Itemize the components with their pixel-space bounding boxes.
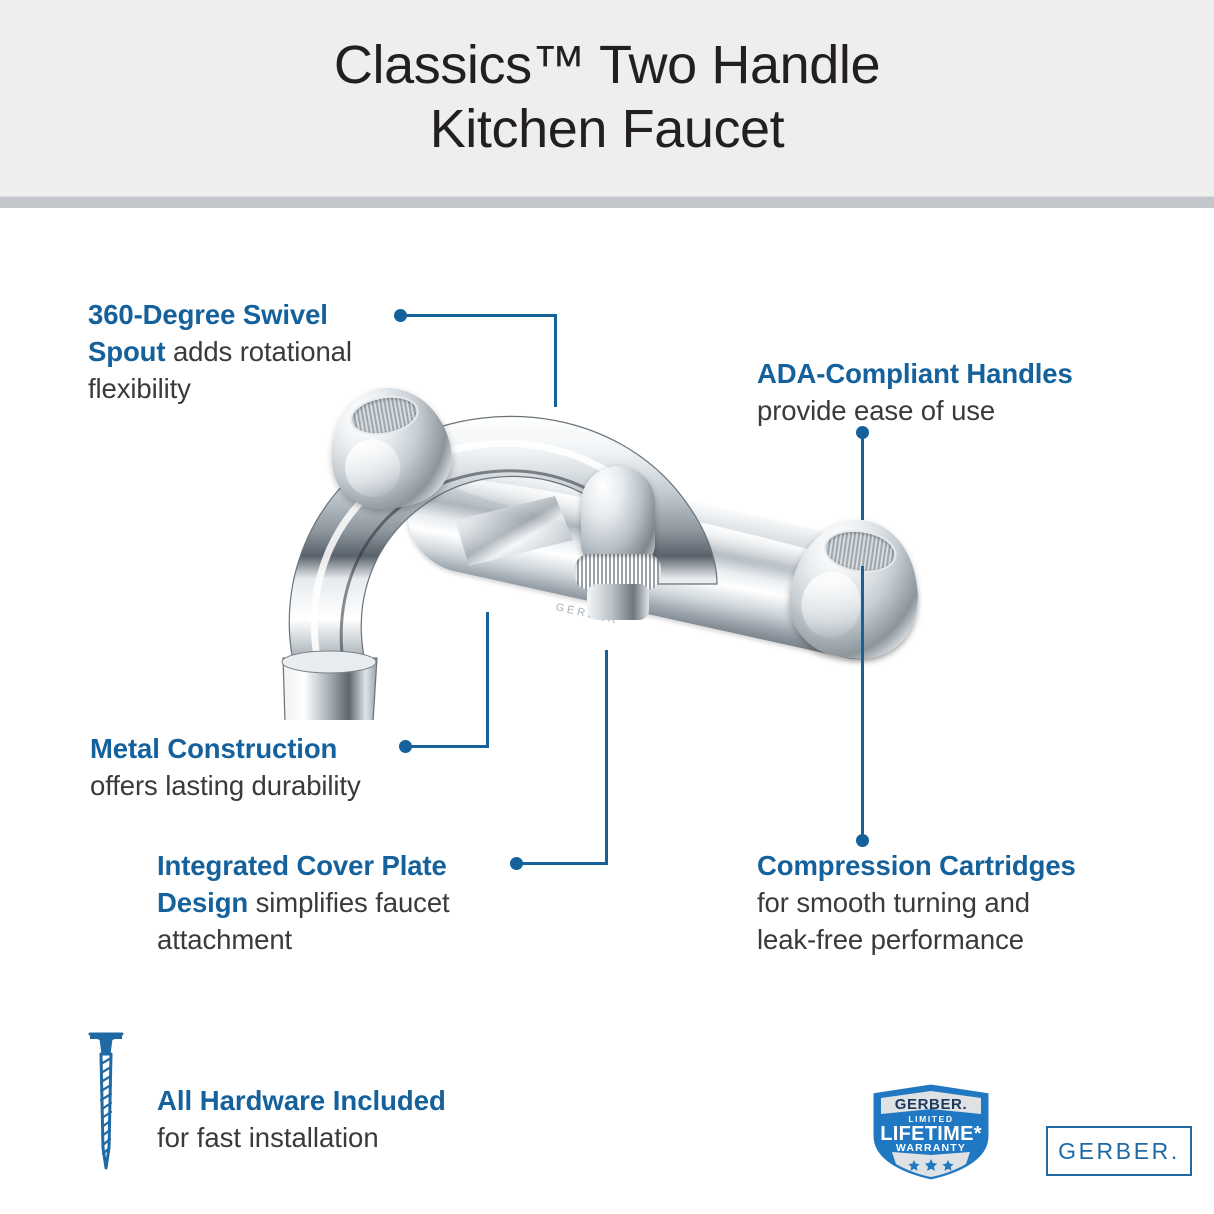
callout-ada-handles-rest: provide ease of use [757, 395, 995, 426]
callout-cover-plate-text: Integrated Cover PlateDesign simplifies … [157, 847, 557, 958]
callout-all-hardware-text: All Hardware Includedfor fast installati… [157, 1082, 446, 1156]
callout-metal-construction-text: Metal Constructionoffers lasting durabil… [90, 730, 470, 804]
gerber-logo: GERBER. [1046, 1126, 1192, 1176]
connector-cover-plate-v [605, 650, 608, 865]
callout-all-hardware-bold: All Hardware Included [157, 1085, 446, 1116]
page-title: Classics™ Two Handle Kitchen Faucet [334, 34, 880, 161]
callout-cover-plate-bold-2: Design [157, 887, 248, 918]
callout-compression-cartridges-line3: leak-free performance [757, 924, 1024, 955]
callout-swivel-spout-bold-1: 360-Degree Swivel [88, 299, 328, 330]
header-band: Classics™ Two Handle Kitchen Faucet [0, 0, 1214, 196]
callout-swivel-spout-rest: adds rotational [165, 336, 351, 367]
callout-compression-cartridges-text: Compression Cartridgesfor smooth turning… [757, 847, 1147, 958]
callout-swivel-spout-line3: flexibility [88, 373, 191, 404]
callout-compression-cartridges: Compression Cartridgesfor smooth turning… [757, 847, 1147, 958]
badge-brand: GERBER. [895, 1096, 968, 1113]
compression-cartridge [575, 466, 661, 616]
callout-ada-handles: ADA-Compliant Handlesprovide ease of use [757, 355, 1147, 429]
callout-all-hardware-rest: for fast installation [157, 1122, 379, 1153]
lifetime-warranty-badge: GERBER. LIMITED LIFETIME* WARRANTY [862, 1080, 1000, 1184]
callout-metal-construction: Metal Constructionoffers lasting durabil… [90, 730, 470, 804]
callout-cover-plate: Integrated Cover PlateDesign simplifies … [157, 847, 557, 958]
handle-right-highlight [797, 568, 865, 642]
callout-compression-cartridges-bold: Compression Cartridges [757, 850, 1076, 881]
callout-swivel-spout-text: 360-Degree SwivelSpout adds rotationalfl… [88, 296, 428, 407]
callout-swivel-spout: 360-Degree SwivelSpout adds rotationalfl… [88, 296, 428, 407]
connector-metal-construction-h [409, 745, 489, 748]
connector-swivel-spout-v [554, 314, 557, 407]
callout-ada-handles-bold: ADA-Compliant Handles [757, 358, 1073, 389]
callout-ada-handles-text: ADA-Compliant Handlesprovide ease of use [757, 355, 1147, 429]
connector-cover-plate-h [520, 862, 608, 865]
connector-compression-cartridges-v [861, 566, 864, 836]
cartridge-base [587, 584, 649, 620]
connector-metal-construction-v [486, 612, 489, 748]
callout-cover-plate-rest: simplifies faucet [248, 887, 449, 918]
gerber-logo-text: GERBER. [1058, 1138, 1180, 1165]
callout-cover-plate-bold-1: Integrated Cover Plate [157, 850, 447, 881]
handle-left-highlight [341, 435, 405, 501]
callout-metal-construction-rest: offers lasting durability [90, 770, 361, 801]
badge-warranty: WARRANTY [896, 1142, 966, 1154]
connector-swivel-spout-h [404, 314, 557, 317]
callout-swivel-spout-bold-2: Spout [88, 336, 165, 367]
callout-cover-plate-line3: attachment [157, 924, 292, 955]
header-divider [0, 196, 1214, 208]
product-infographic: Classics™ Two Handle Kitchen Faucet GERB… [0, 0, 1214, 1214]
callout-compression-cartridges-line2: for smooth turning and [757, 887, 1030, 918]
callout-metal-construction-bold: Metal Construction [90, 733, 337, 764]
callout-all-hardware: All Hardware Includedfor fast installati… [157, 1082, 446, 1156]
screw-icon [86, 1028, 126, 1180]
connector-ada-handles-v [861, 432, 864, 520]
